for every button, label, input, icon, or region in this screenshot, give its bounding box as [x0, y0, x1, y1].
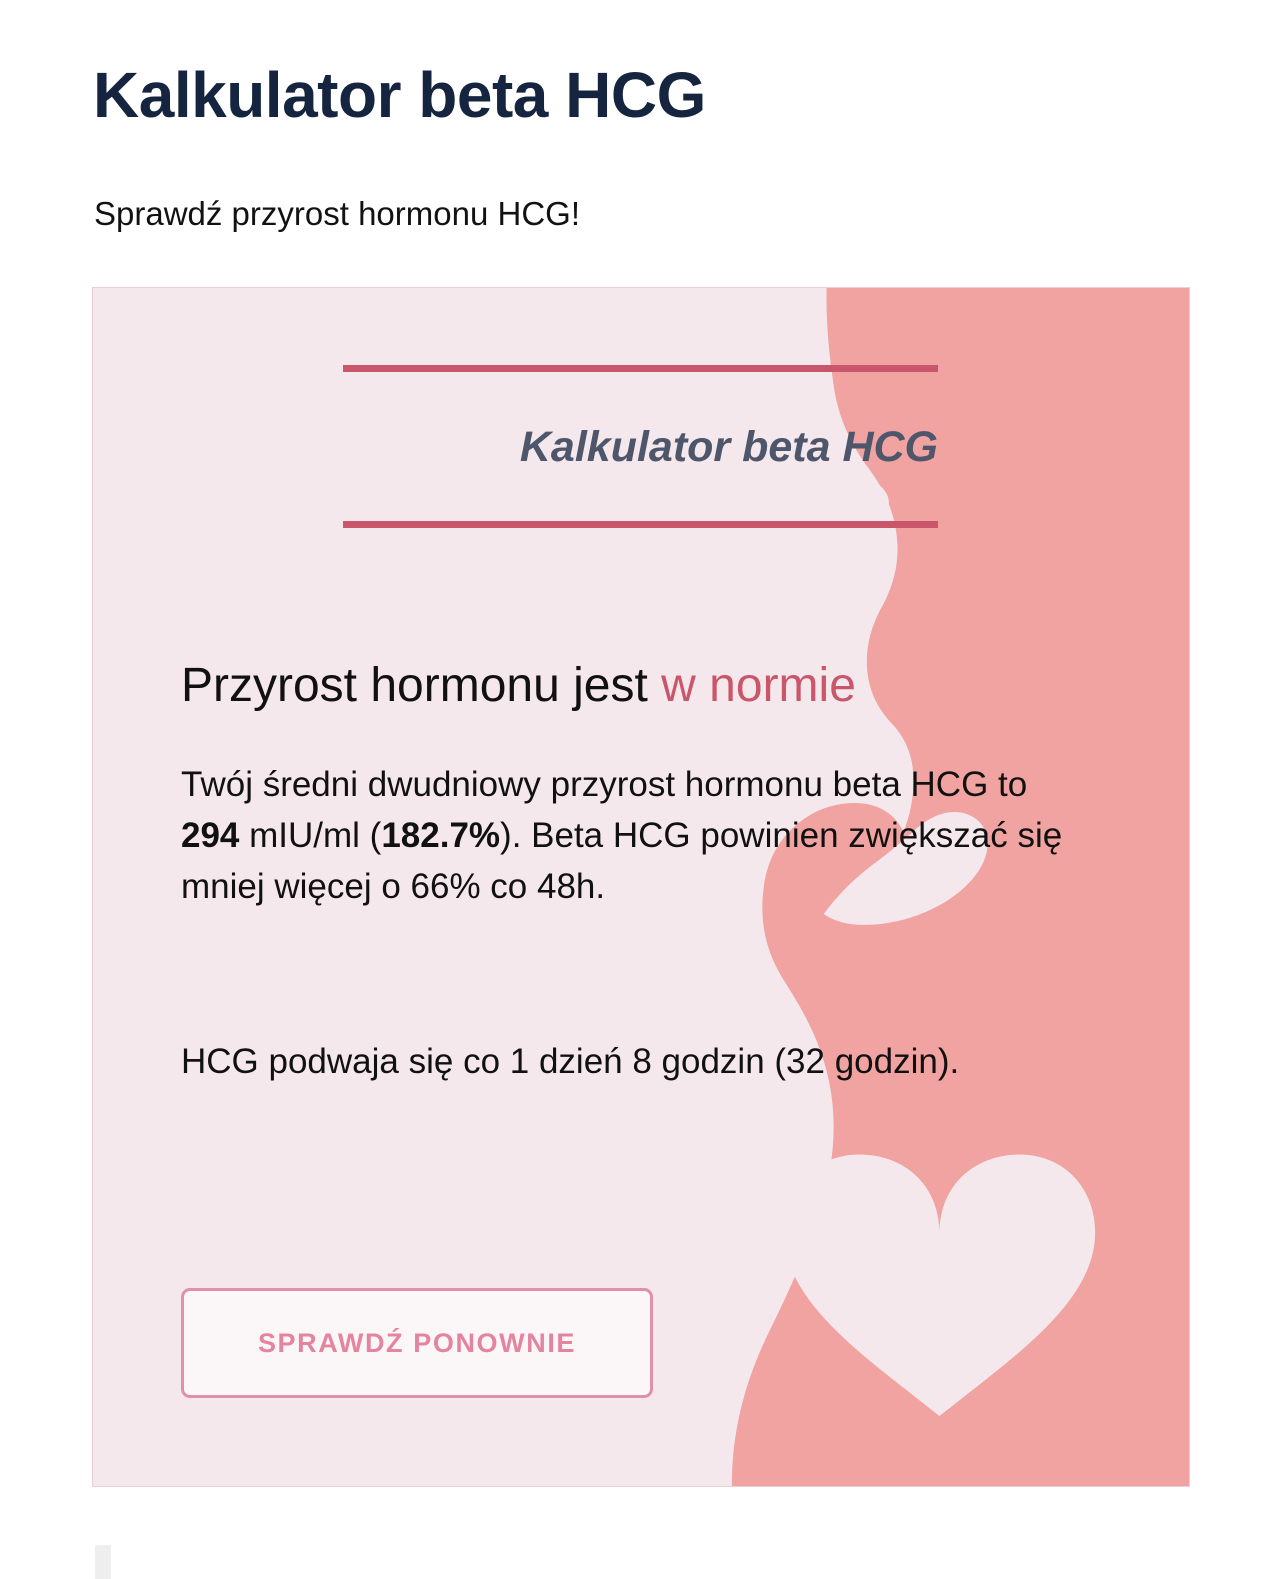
result-card-content: Kalkulator beta HCG Przyrost hormonu jes…: [93, 288, 1189, 1486]
result-status-text: w normie: [661, 659, 856, 712]
check-again-button[interactable]: Sprawdź ponownie: [181, 1288, 653, 1398]
title-rule-top: [343, 365, 938, 372]
result-headline: Przyrost hormonu jest w normie: [181, 658, 856, 713]
card-title-block: Kalkulator beta HCG: [343, 365, 938, 528]
result-paragraph-doubling-time: HCG podwaja się co 1 dzień 8 godzin (32 …: [181, 1030, 1081, 1094]
page-subtitle: Sprawdź przyrost hormonu HCG!: [94, 193, 580, 234]
hcg-increase-percent: 182.7%: [381, 816, 500, 855]
paragraph-segment-2: mIU/ml (: [239, 816, 381, 855]
result-paragraph-primary: Twój średni dwudniowy przyrost hormonu b…: [181, 760, 1081, 912]
bottom-placeholder-block: [95, 1545, 111, 1579]
page-root: Kalkulator beta HCG Sprawdź przyrost hor…: [0, 0, 1284, 1579]
hcg-increase-value: 294: [181, 816, 239, 855]
result-headline-prefix: Przyrost hormonu jest: [181, 659, 661, 712]
result-card: Kalkulator beta HCG Przyrost hormonu jes…: [92, 287, 1190, 1487]
paragraph-segment-1: Twój średni dwudniowy przyrost hormonu b…: [181, 765, 1027, 804]
card-title: Kalkulator beta HCG: [343, 372, 938, 521]
page-title: Kalkulator beta HCG: [93, 62, 706, 129]
title-rule-bottom: [343, 521, 938, 528]
